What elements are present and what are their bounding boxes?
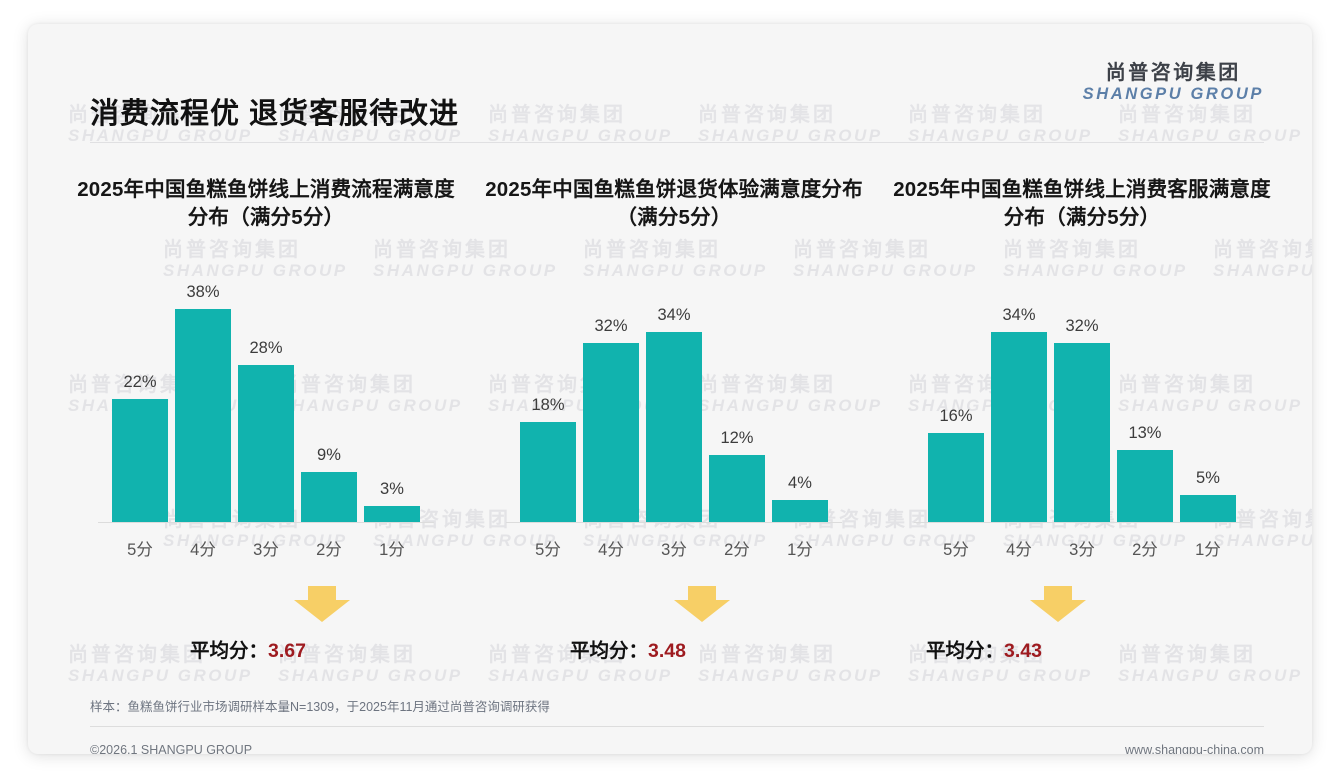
x-tick-label: 5分 [520, 536, 576, 560]
bar-slot[interactable]: 5% [1180, 274, 1236, 523]
chart-panel-1: 2025年中国鱼糕鱼饼线上消费流程满意度分布（满分5分） 22% 38% 28% [62, 176, 470, 676]
bar-value-label: 3% [380, 480, 404, 499]
bar-group-2: 18% 32% 34% 12% [520, 274, 828, 523]
x-tick-label: 4分 [583, 536, 639, 560]
x-tick-label: 4分 [991, 536, 1047, 560]
logo-chinese-text: 尚普咨询集团 [1083, 62, 1264, 85]
bar-slot[interactable]: 16% [928, 274, 984, 523]
average-block-2: 平均分：3.48 [470, 586, 878, 676]
bar-plot-3: 16% 34% 32% 13% [928, 274, 1236, 523]
bar-slot[interactable]: 18% [520, 274, 576, 523]
bar[interactable] [772, 500, 828, 523]
bar-slot[interactable]: 22% [112, 274, 168, 523]
bar-group-1: 22% 38% 28% 9% [112, 274, 420, 523]
x-tick-label: 1分 [364, 536, 420, 560]
x-tick-label: 1分 [1180, 536, 1236, 560]
bar[interactable] [1180, 495, 1236, 523]
x-axis-labels-2: 5分 4分 3分 2分 1分 [520, 523, 828, 560]
bar-value-label: 12% [720, 429, 753, 448]
bar-slot[interactable]: 34% [646, 274, 702, 523]
bar-group-3: 16% 34% 32% 13% [928, 274, 1236, 523]
bar[interactable] [1117, 450, 1173, 523]
average-block-1: 平均分：3.67 [62, 586, 470, 676]
average-score-1: 平均分：3.67 [190, 634, 306, 663]
bar-slot[interactable]: 13% [1117, 274, 1173, 523]
bar-value-label: 34% [1002, 306, 1035, 325]
footer-website[interactable]: www.shangpu-china.com [1125, 743, 1264, 754]
chart-panel-3: 2025年中国鱼糕鱼饼线上消费客服满意度分布（满分5分） 16% 34% 32% [878, 176, 1286, 676]
bar-slot[interactable]: 32% [1054, 274, 1110, 523]
bar-slot[interactable]: 4% [772, 274, 828, 523]
average-score-3: 平均分：3.43 [926, 634, 1042, 663]
x-axis-line [98, 522, 434, 523]
bar[interactable] [646, 332, 702, 523]
bar-value-label: 22% [124, 373, 157, 392]
bar[interactable] [991, 332, 1047, 523]
bar-value-label: 28% [249, 339, 282, 358]
average-label: 平均分： [570, 640, 648, 662]
bar[interactable] [1054, 343, 1110, 523]
bar-slot[interactable]: 34% [991, 274, 1047, 523]
bar[interactable] [928, 433, 984, 523]
bar[interactable] [238, 365, 294, 523]
average-value: 3.48 [648, 640, 686, 662]
bar-slot[interactable]: 32% [583, 274, 639, 523]
bar-slot[interactable]: 28% [238, 274, 294, 523]
chart-title-3: 2025年中国鱼糕鱼饼线上消费客服满意度分布（满分5分） [878, 176, 1286, 252]
average-label: 平均分： [190, 640, 268, 662]
x-axis-labels-3: 5分 4分 3分 2分 1分 [928, 523, 1236, 560]
bar-value-label: 5% [1196, 469, 1220, 488]
x-tick-label: 5分 [928, 536, 984, 560]
x-axis-line [914, 522, 1250, 523]
bar[interactable] [364, 506, 420, 523]
x-axis-labels-1: 5分 4分 3分 2分 1分 [112, 523, 420, 560]
bar-value-label: 13% [1128, 424, 1161, 443]
footnote-text: 样本：鱼糕鱼饼行业市场调研样本量N=1309，于2025年11月通过尚普咨询调研… [90, 696, 1264, 726]
down-arrow-icon [674, 586, 730, 622]
x-tick-label: 2分 [1117, 536, 1173, 560]
x-axis-line [506, 522, 842, 523]
bar[interactable] [709, 455, 765, 523]
x-tick-label: 2分 [301, 536, 357, 560]
chart-title-2: 2025年中国鱼糕鱼饼退货体验满意度分布（满分5分） [470, 176, 878, 252]
average-value: 3.67 [268, 640, 306, 662]
bar-slot[interactable]: 38% [175, 274, 231, 523]
bar-plot-1: 22% 38% 28% 9% [112, 274, 420, 523]
bar-value-label: 34% [657, 306, 690, 325]
page-title: 消费流程优 退货客服待改进 [90, 90, 459, 132]
down-arrow-icon [294, 586, 350, 622]
chart-panel-2: 2025年中国鱼糕鱼饼退货体验满意度分布（满分5分） 18% 32% 34% [470, 176, 878, 676]
logo-english-text: SHANGPU GROUP [1083, 85, 1264, 105]
x-tick-label: 3分 [1054, 536, 1110, 560]
charts-row: 2025年中国鱼糕鱼饼线上消费流程满意度分布（满分5分） 22% 38% 28% [62, 176, 1286, 676]
x-tick-label: 3分 [646, 536, 702, 560]
bar-slot[interactable]: 3% [364, 274, 420, 523]
footnote-divider [90, 726, 1264, 727]
brand-logo: 尚普咨询集团 SHANGPU GROUP [1083, 62, 1264, 105]
average-score-2: 平均分：3.48 [570, 634, 686, 663]
slide-footer: ©2026.1 SHANGPU GROUP www.shangpu-china.… [90, 736, 1264, 754]
bar-value-label: 18% [532, 396, 565, 415]
x-tick-label: 4分 [175, 536, 231, 560]
x-tick-label: 1分 [772, 536, 828, 560]
header-divider [90, 142, 1264, 143]
bar-value-label: 32% [594, 317, 627, 336]
x-tick-label: 2分 [709, 536, 765, 560]
x-tick-label: 5分 [112, 536, 168, 560]
average-label: 平均分： [926, 640, 1004, 662]
average-value: 3.43 [1004, 640, 1042, 662]
bar-value-label: 16% [940, 407, 973, 426]
slide: 尚普咨询集团SHANGPU GROUP尚普咨询集团SHANGPU GROUP尚普… [28, 24, 1312, 754]
bar[interactable] [112, 399, 168, 523]
bar-value-label: 32% [1065, 317, 1098, 336]
bar[interactable] [175, 309, 231, 523]
bar-slot[interactable]: 9% [301, 274, 357, 523]
chart-title-1: 2025年中国鱼糕鱼饼线上消费流程满意度分布（满分5分） [62, 176, 470, 252]
bar-value-label: 4% [788, 474, 812, 493]
bar-value-label: 38% [186, 283, 219, 302]
bar-value-label: 9% [317, 446, 341, 465]
x-tick-label: 3分 [238, 536, 294, 560]
footnote-area: 样本：鱼糕鱼饼行业市场调研样本量N=1309，于2025年11月通过尚普咨询调研… [90, 696, 1264, 727]
footer-copyright: ©2026.1 SHANGPU GROUP [90, 743, 252, 754]
bar[interactable] [583, 343, 639, 523]
bar[interactable] [301, 472, 357, 523]
down-arrow-icon [1030, 586, 1086, 622]
slide-header: 消费流程优 退货客服待改进 尚普咨询集团 SHANGPU GROUP [28, 24, 1312, 120]
bar[interactable] [520, 422, 576, 523]
bar-slot[interactable]: 12% [709, 274, 765, 523]
average-block-3: 平均分：3.43 [878, 586, 1286, 676]
bar-plot-2: 18% 32% 34% 12% [520, 274, 828, 523]
